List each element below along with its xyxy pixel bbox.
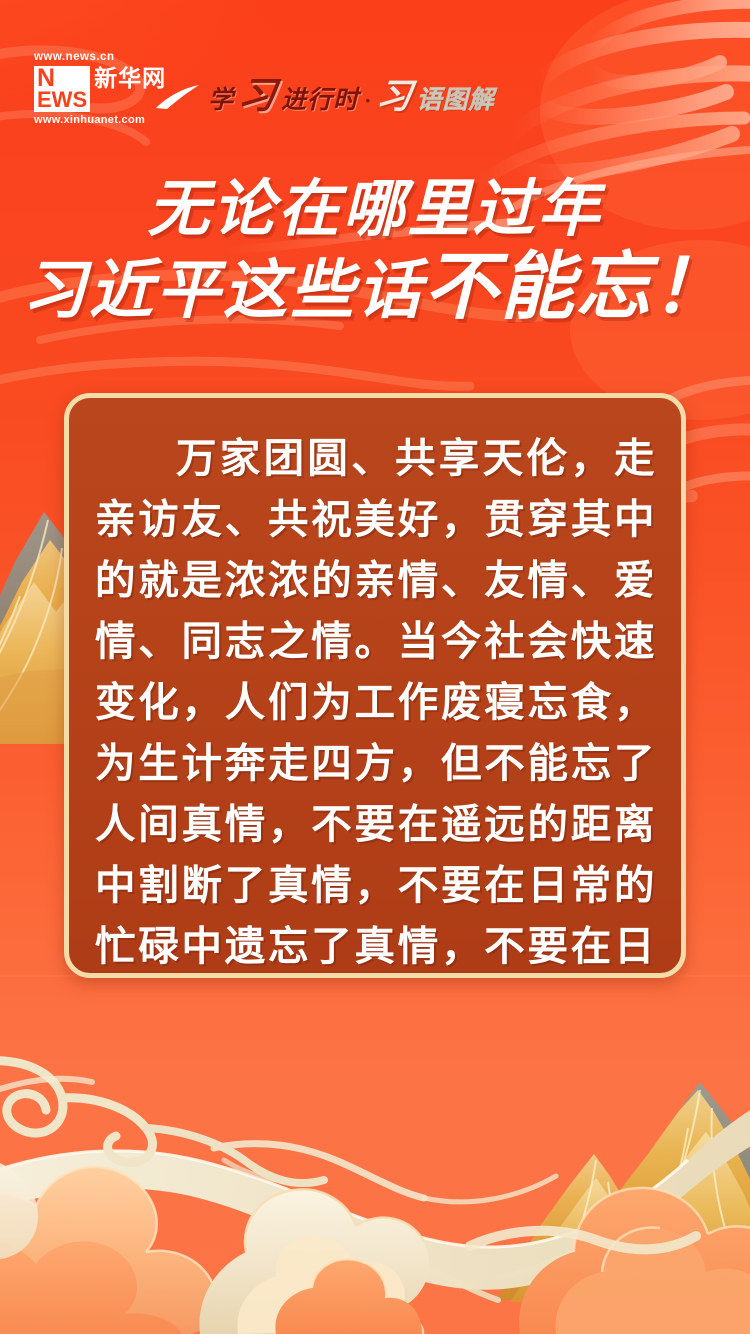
ribbon-icon [0,1098,750,1300]
logo-mark: N EWS 新华网 [34,66,166,112]
logo-news-mark: N EWS [34,66,90,112]
quote-card-inner: 万家团圆、共享天伦，走亲访友、共祝美好，贯穿其中的就是浓浓的亲情、友情、爱情、同… [69,398,681,978]
poster-canvas: www.news.cn N EWS 新华网 www.xinhuanet.com … [0,0,750,1334]
logo-mark-line2: EWS [37,90,87,110]
brand-tagline: 学 习 进行时 · 习 语图解 [208,65,494,119]
tagline-part-4: 习 [373,68,415,119]
logo-url-top: www.news.cn [34,52,114,64]
title-line-2: 习近平这些话不能忘！ [0,247,750,330]
page-title: 无论在哪里过年 习近平这些话不能忘！ [0,178,750,330]
title-line-2-part-b: 不能忘！ [424,247,728,329]
cloud-icon [0,1156,217,1334]
cloud-icon [199,1189,429,1334]
tagline-part-1: 学 [208,80,234,116]
title-line-2-part-a: 习近平这些话 [22,255,424,326]
cloud-swirl-icon [0,1061,324,1183]
quote-card: 万家团圆、共享天伦，走亲访友、共祝美好，贯穿其中的就是浓浓的亲情、友情、爱情、同… [64,393,686,978]
tagline-part-2: 习 [235,65,280,119]
title-line-1: 无论在哪里过年 [0,178,750,243]
xinhuanet-logo[interactable]: www.news.cn N EWS 新华网 www.xinhuanet.com [34,52,166,126]
site-header: www.news.cn N EWS 新华网 www.xinhuanet.com … [34,52,495,126]
quote-text: 万家团圆、共享天伦，走亲访友、共祝美好，贯穿其中的就是浓浓的亲情、友情、爱情、同… [95,428,655,978]
mountain-icon [496,1082,750,1302]
tagline-part-3: 进行时 [281,80,359,116]
swoosh-icon [154,84,200,110]
tagline-part-5: 语图解 [417,80,495,116]
logo-url-bottom: www.xinhuanet.com [34,115,145,126]
cloud-icon [470,1188,750,1334]
tagline-separator: · [364,88,371,114]
